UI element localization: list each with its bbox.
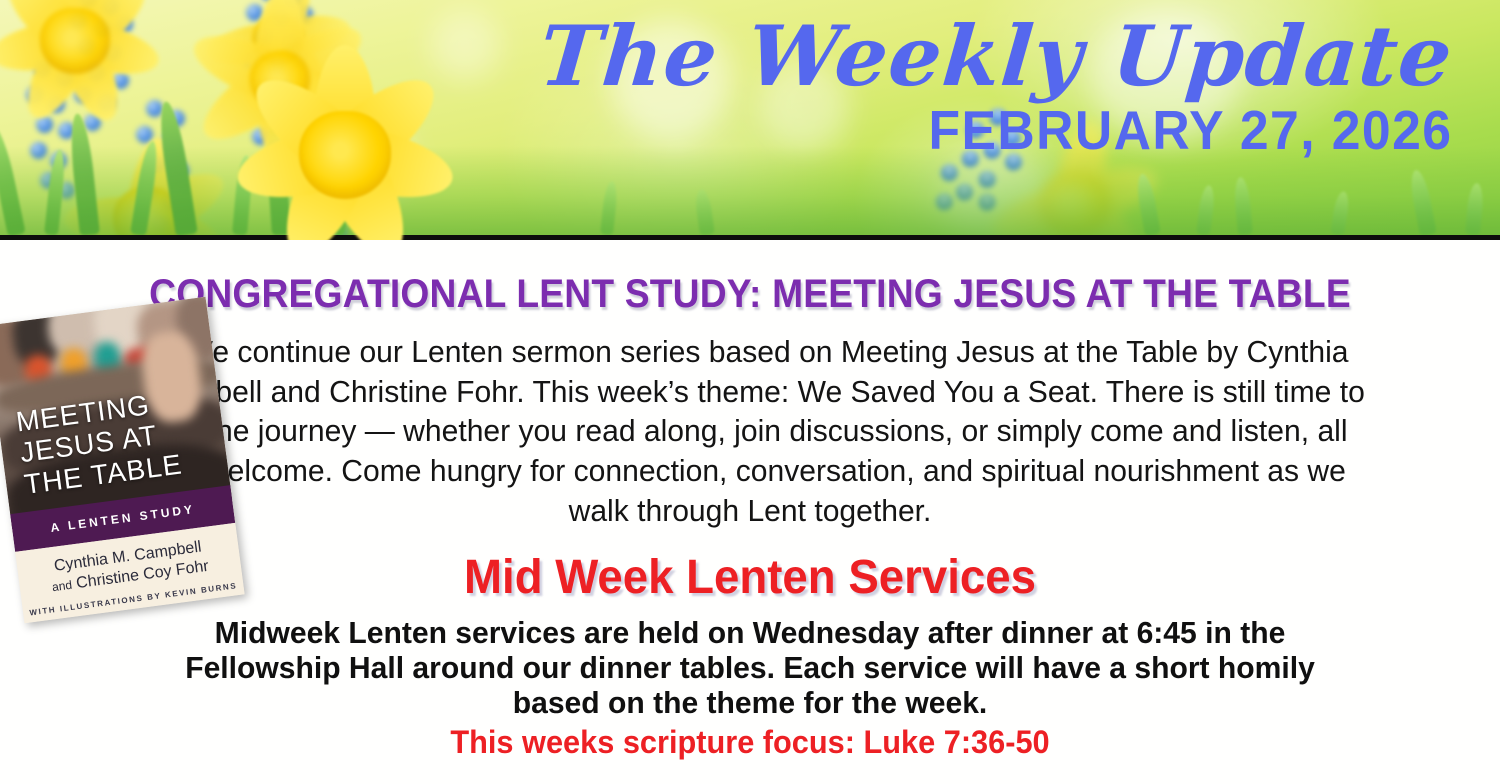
- intro-paragraph: We continue our Lenten sermon series bas…: [134, 332, 1366, 530]
- scripture-focus-line: This weeks scripture focus: Luke 7:36-50: [30, 725, 1470, 760]
- daffodil-icon: [0, 0, 150, 116]
- daffodil-icon: [230, 40, 460, 240]
- newsletter-title: The Weekly Update: [536, 14, 1456, 99]
- content-area: CONGREGATIONAL LENT STUDY: MEETING JESUS…: [0, 240, 1500, 784]
- page-title: CONGREGATIONAL LENT STUDY: MEETING JESUS…: [53, 240, 1448, 314]
- banner-text-block: The Weekly Update FEBRUARY 27, 2026: [540, 14, 1452, 158]
- book-cover-image: MEETING JESUS AT THE TABLE A LENTEN STUD…: [0, 297, 245, 623]
- header-banner: The Weekly Update FEBRUARY 27, 2026: [0, 0, 1500, 240]
- midweek-details-paragraph: Midweek Lenten services are held on Wedn…: [139, 616, 1361, 720]
- newsletter-date: FEBRUARY 27, 2026: [594, 103, 1452, 158]
- book-author-conjunction: and: [51, 578, 73, 594]
- midweek-services-heading: Mid Week Lenten Services: [38, 554, 1463, 602]
